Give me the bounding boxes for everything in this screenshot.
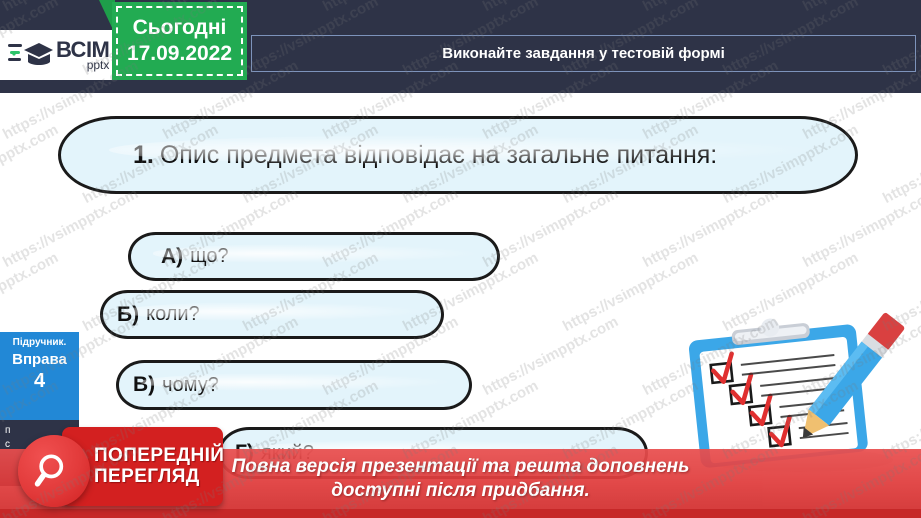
- date-badge-label: Сьогодні: [133, 15, 227, 41]
- answer-option-c[interactable]: В) чому?: [116, 360, 472, 410]
- preview-badge-line2: ПЕРЕГЛЯД: [94, 467, 224, 488]
- promo-line-2: доступні після придбання.: [331, 479, 590, 503]
- preview-badge[interactable]: ПОПЕРЕДНІЙ ПЕРЕГЛЯД: [62, 427, 223, 506]
- question-number: 1.: [133, 141, 154, 170]
- preview-badge-line1: ПОПЕРЕДНІЙ: [94, 446, 224, 467]
- answer-letter: В): [133, 373, 155, 397]
- date-badge-date: 17.09.2022: [127, 41, 232, 67]
- brand-logo[interactable]: ВСІМ pptx: [0, 30, 115, 80]
- magnifier-icon: [18, 435, 90, 507]
- slide-canvas: ВСІМ pptx Сьогодні 17.09.2022 Виконайте …: [0, 0, 921, 518]
- date-badge: Сьогодні 17.09.2022: [112, 2, 247, 80]
- promo-line-1: Повна версія презентації та решта доповн…: [232, 455, 690, 479]
- header-banner: Виконайте завдання у тестовій формі: [251, 35, 916, 72]
- textbook-label-line1: Підручник.: [0, 337, 79, 350]
- clipboard-illustration: [688, 312, 921, 472]
- answer-text: коли?: [146, 303, 200, 326]
- answer-letter: Б): [117, 303, 139, 327]
- question-bubble: 1. Опис предмета відповідає на загальне …: [58, 116, 858, 194]
- textbook-label-number: 4: [0, 369, 79, 394]
- answer-text: чому?: [162, 374, 219, 397]
- answer-option-a[interactable]: А) що?: [128, 232, 500, 281]
- textbook-exercise-label: Підручник. Вправа 4: [0, 332, 79, 420]
- bottom-strip: [0, 509, 921, 518]
- answer-letter: А): [161, 245, 183, 269]
- answer-option-b[interactable]: Б) коли?: [100, 290, 444, 339]
- answer-text: що?: [190, 245, 228, 268]
- graduation-cap-icon: [8, 38, 54, 72]
- header-title: Виконайте завдання у тестовій формі: [442, 45, 724, 62]
- question-text: Опис предмета відповідає на загальне пит…: [160, 141, 717, 170]
- textbook-label-line2: Вправа: [0, 350, 79, 370]
